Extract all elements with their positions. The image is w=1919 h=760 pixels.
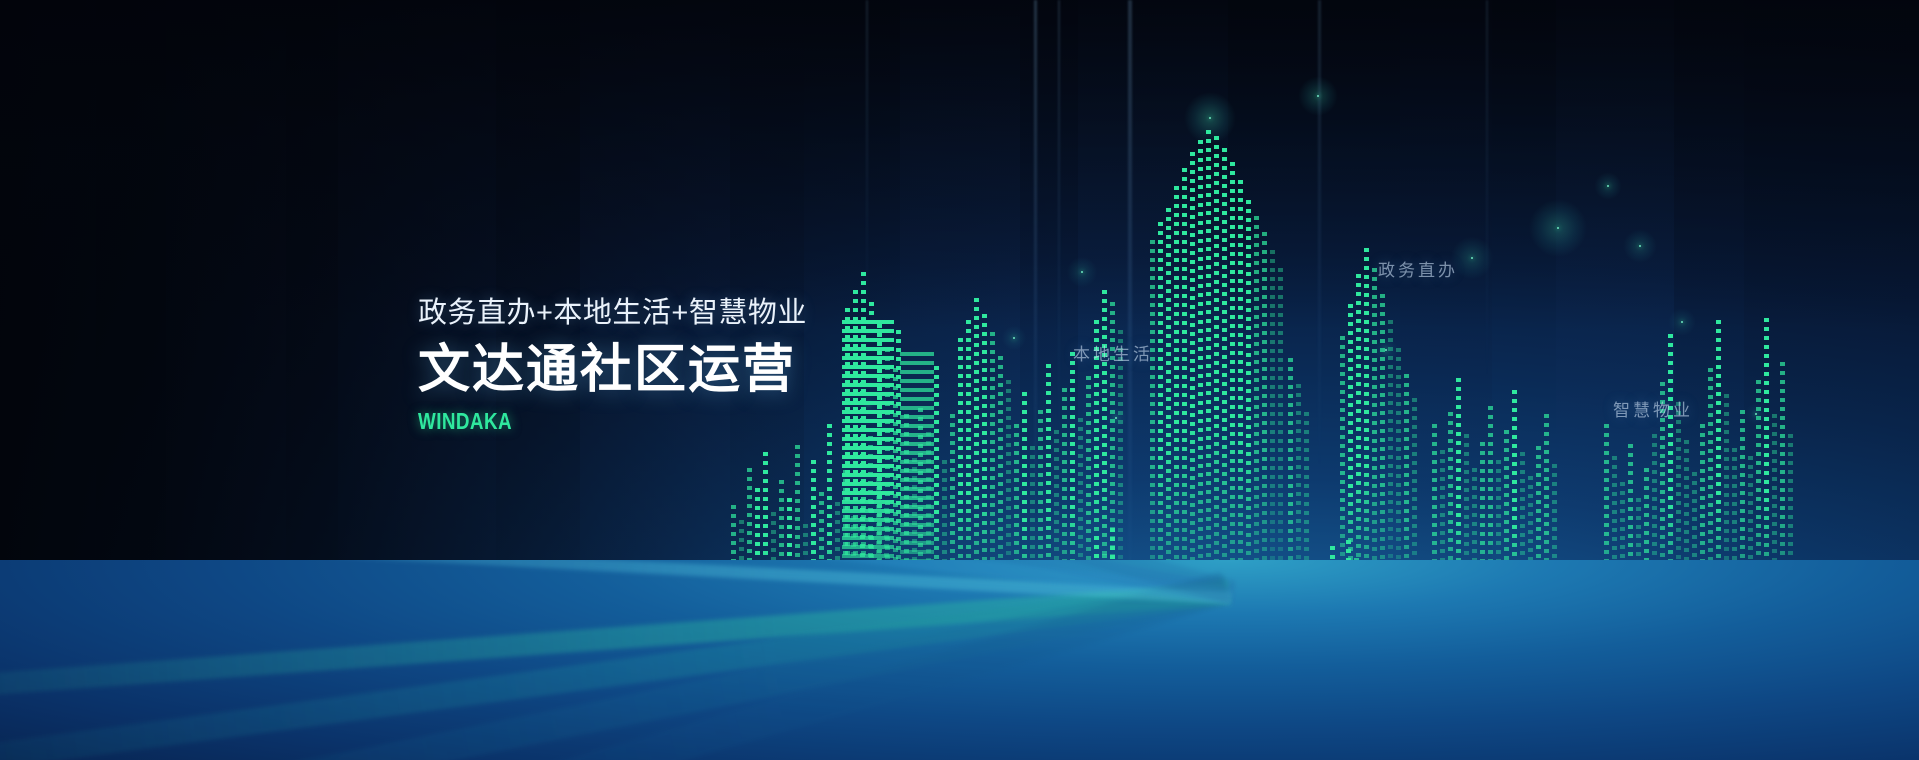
dot-matrix-bar [1222, 148, 1227, 620]
banner-hero: 政务直办+本地生活+智慧物业 文达通社区运营 WINDAKA 本地生活政务直办智… [0, 0, 1919, 760]
dot-matrix-bar [1230, 162, 1235, 620]
dot-matrix-bar [1246, 200, 1251, 620]
hero-copy-block: 政务直办+本地生活+智慧物业 文达通社区运营 WINDAKA [418, 296, 807, 435]
dot-matrix-bar [1198, 140, 1203, 620]
brand-wordmark: WINDAKA [418, 408, 737, 435]
hero-headline: 文达通社区运营 [418, 342, 807, 398]
pillar-label-3: 智慧物业 [1613, 396, 1693, 421]
dot-matrix-bar [1166, 208, 1171, 620]
hero-eyebrow: 政务直办+本地生活+智慧物业 [418, 296, 807, 331]
dot-matrix-bar [1182, 168, 1187, 620]
dot-matrix-bar [1238, 180, 1243, 620]
pillar-label-1: 本地生活 [1073, 340, 1153, 365]
dot-matrix-bar [1206, 130, 1211, 620]
ground-ray-fan [0, 560, 1919, 760]
dot-matrix-bar [1214, 136, 1219, 620]
dot-matrix-bar [1190, 152, 1195, 620]
pillar-label-2: 政务直办 [1378, 256, 1458, 281]
perspective-ground [0, 560, 1919, 760]
dot-matrix-bar [1174, 186, 1179, 620]
